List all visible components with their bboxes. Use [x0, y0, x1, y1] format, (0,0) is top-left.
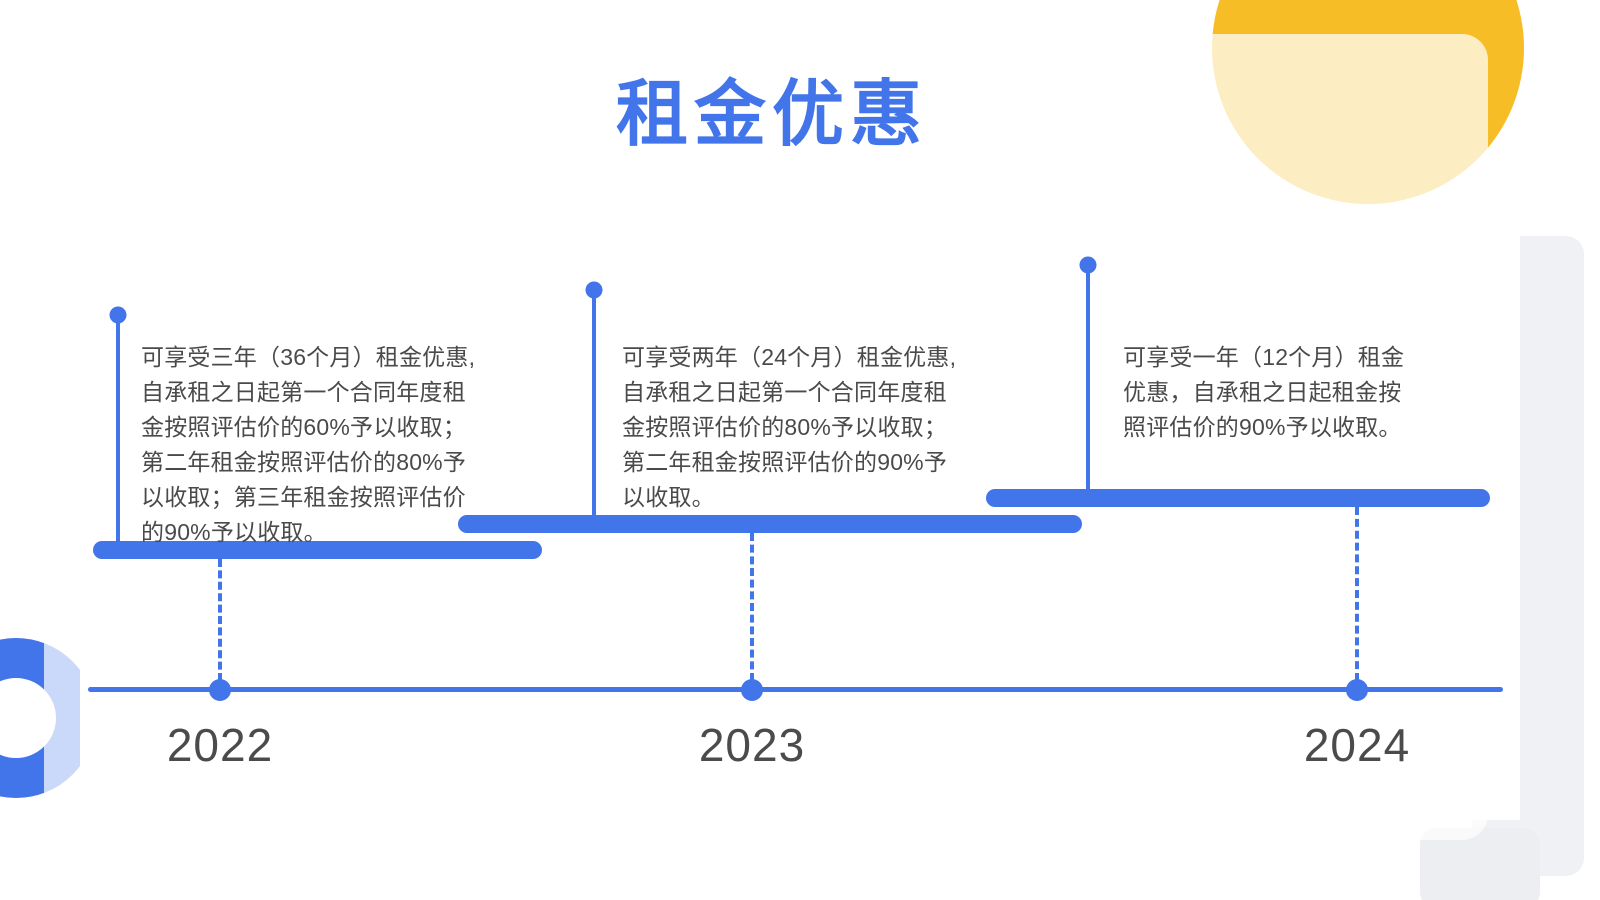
phase-connector-2023	[750, 533, 754, 681]
phase-connector-2022	[218, 559, 222, 681]
axis-dot-2024[interactable]	[1346, 679, 1368, 701]
phase-stem-2024	[1086, 265, 1090, 495]
timeline-axis	[88, 687, 1503, 692]
phase-bar-2023[interactable]	[458, 515, 1082, 533]
phase-stem-2023	[592, 290, 596, 521]
phase-connector-2024	[1355, 507, 1359, 681]
phase-bar-2024[interactable]	[986, 489, 1490, 507]
axis-label-2022: 2022	[167, 718, 273, 772]
phase-stem-2022	[116, 315, 120, 550]
slide-stage: 租金优惠 可享受三年（36个月）租金优惠, 自承租之日起第一个合同年度租 金按照…	[0, 0, 1600, 900]
axis-dot-2022[interactable]	[209, 679, 231, 701]
axis-label-2023: 2023	[699, 718, 805, 772]
timeline: 可享受三年（36个月）租金优惠, 自承租之日起第一个合同年度租 金按照评估价的6…	[0, 0, 1600, 900]
phase-description-2024: 可享受一年（12个月）租金 优惠，自承租之日起租金按 照评估价的90%予以收取。	[1123, 340, 1443, 445]
axis-label-2024: 2024	[1304, 718, 1410, 772]
axis-dot-2023[interactable]	[741, 679, 763, 701]
phase-description-2023: 可享受两年（24个月）租金优惠, 自承租之日起第一个合同年度租 金按照评估价的8…	[622, 340, 1002, 515]
